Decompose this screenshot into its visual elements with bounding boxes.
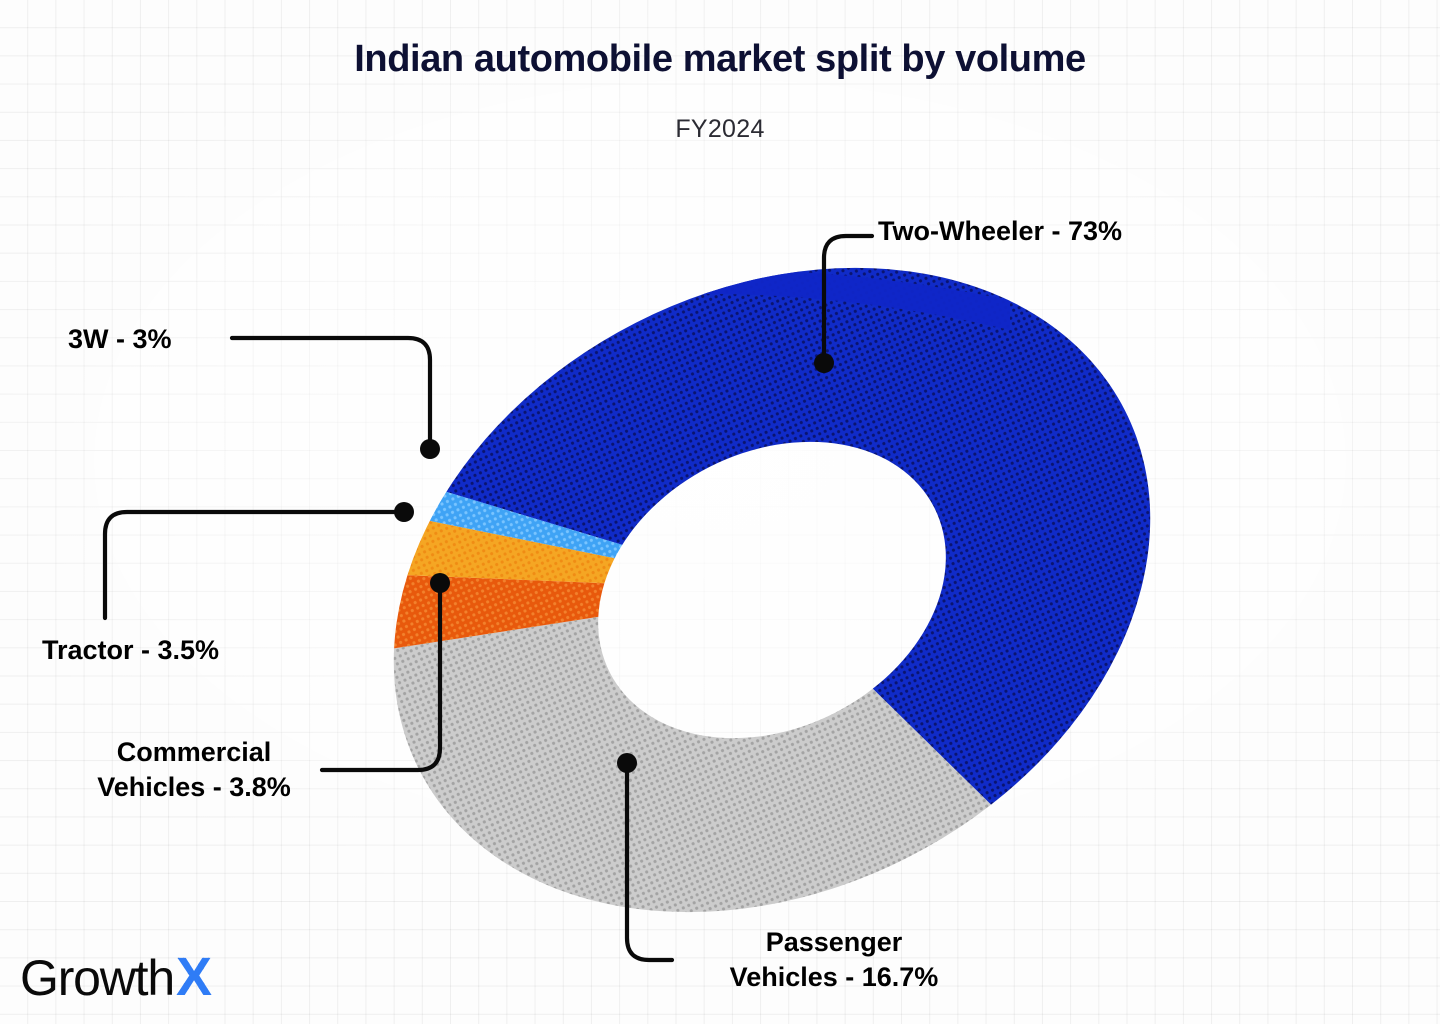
- slice-label-commercial-vehicles: Commercial Vehicles - 3.8%: [75, 735, 313, 805]
- callout-leader-lines: [0, 0, 1440, 1024]
- slice-label-passenger-vehicles: Passenger Vehicles - 16.7%: [706, 925, 962, 995]
- leader-commercial-vehicles: [322, 583, 440, 770]
- logo-x-mark: X: [176, 946, 211, 1008]
- leader-dot-3w: [420, 439, 440, 459]
- leader-tractor: [105, 512, 404, 618]
- leader-dot-tractor: [394, 502, 414, 522]
- leader-dot-commercial-vehicles: [430, 573, 450, 593]
- leader-dot-two-wheeler: [814, 353, 834, 373]
- slice-label-3w: 3W - 3%: [68, 322, 172, 357]
- leader-dot-passenger-vehicles: [617, 753, 637, 773]
- slice-label-two-wheeler: Two-Wheeler - 73%: [878, 214, 1122, 249]
- chart-subtitle: FY2024: [0, 115, 1440, 144]
- leader-passenger-vehicles: [627, 763, 672, 960]
- page-title: Indian automobile market split by volume: [0, 38, 1440, 81]
- growthx-logo: GrowthX: [20, 946, 211, 1008]
- slice-label-tractor: Tractor - 3.5%: [42, 633, 219, 668]
- leader-3w: [232, 338, 430, 449]
- logo-wordmark: Growth: [20, 949, 174, 1007]
- leader-two-wheeler: [824, 236, 872, 363]
